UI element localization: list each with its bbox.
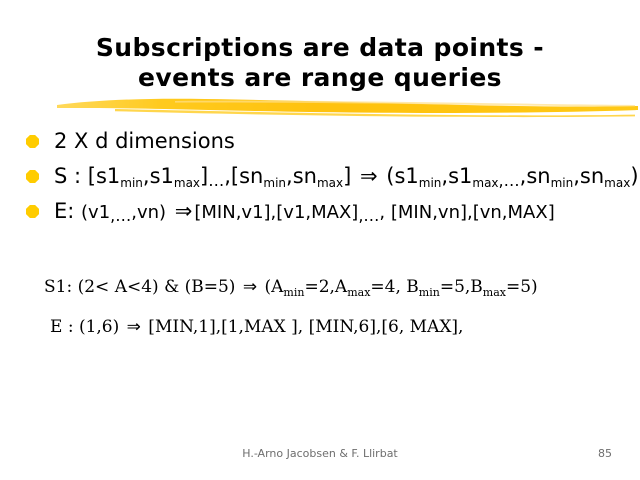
brush-stroke-divider <box>55 96 640 118</box>
bullet-item-dimensions: 2 X d dimensions <box>26 126 640 161</box>
example-subscription: S1: (2< A<4) & (B=5) ⇒ (Amin=2,Amax=4, B… <box>44 268 640 308</box>
slide-canvas: Subscriptions are data points - events a… <box>0 0 640 480</box>
bullet-text-event: E: (v1,…,vn) ⇒[MIN,v1],[v1,MAX],…, [MIN,… <box>54 196 555 228</box>
example-block: S1: (2< A<4) & (B=5) ⇒ (Amin=2,Amax=4, B… <box>44 268 640 346</box>
page-title: Subscriptions are data points - events a… <box>0 33 640 93</box>
bullet-list: 2 X d dimensions S : [s1min,s1max]…,[snm… <box>26 126 640 231</box>
footer-author: H.-Arno Jacobsen & F. Llirbat <box>0 447 640 460</box>
bullet-text-dimensions: 2 X d dimensions <box>54 126 235 156</box>
octagon-bullet-icon <box>26 170 39 183</box>
bullet-text-subscription: S : [s1min,s1max]…,[snmin,snmax] ⇒ (s1mi… <box>54 161 639 194</box>
formula-subscription: S : [s1min,s1max]…,[snmin,snmax] ⇒ (s1mi… <box>54 164 639 188</box>
octagon-bullet-icon <box>26 135 39 148</box>
bullet-item-event: E: (v1,…,vn) ⇒[MIN,v1],[v1,MAX],…, [MIN,… <box>26 196 640 231</box>
footer-page-number: 85 <box>598 447 612 460</box>
bullet-item-subscription: S : [s1min,s1max]…,[snmin,snmax] ⇒ (s1mi… <box>26 161 640 196</box>
slide-footer: H.-Arno Jacobsen & F. Llirbat 85 <box>0 447 640 467</box>
example-event: E : (1,6) ⇒ [MIN,1],[1,MAX ], [MIN,6],[6… <box>44 308 640 346</box>
octagon-bullet-icon <box>26 205 39 218</box>
title-line-1: Subscriptions are data points - <box>0 33 640 63</box>
title-line-2: events are range queries <box>0 63 640 93</box>
formula-event: E: (v1,…,vn) ⇒[MIN,v1],[v1,MAX],…, [MIN,… <box>54 199 555 223</box>
